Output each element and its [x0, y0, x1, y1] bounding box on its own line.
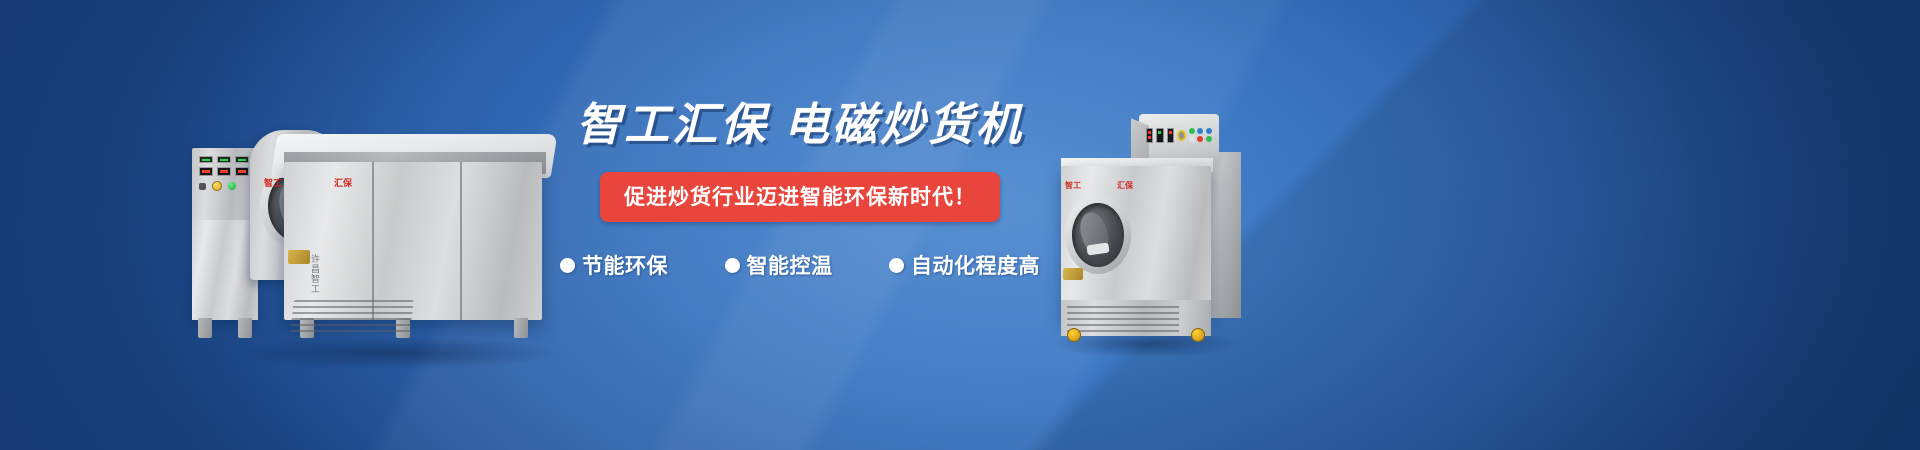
button-grid-2 — [1206, 128, 1212, 142]
product-image-roaster-small: 智工 汇保 — [1043, 100, 1258, 348]
emergency-knob-icon — [212, 181, 222, 191]
product-image-roaster-large: 智工 汇保 许昌智工 — [188, 104, 558, 356]
cabinet-leg-right — [238, 318, 252, 338]
feature-label: 智能控温 — [747, 250, 833, 280]
cabinet-leg-3 — [514, 318, 528, 338]
button-green-2 — [1206, 136, 1212, 142]
cabinet-lower-door — [192, 220, 258, 320]
display-row — [199, 167, 251, 176]
meter-3 — [1167, 128, 1174, 143]
gauge-row — [199, 156, 251, 163]
rating-plate — [1063, 268, 1083, 280]
cabinet-leg-left — [198, 318, 212, 338]
display-3 — [235, 167, 249, 176]
brand-text-right: 汇保 — [1117, 180, 1133, 191]
meter-1 — [1146, 128, 1153, 143]
button-blue-1 — [1197, 128, 1203, 134]
button-white-1 — [1189, 136, 1195, 142]
banner-text-block: 智工汇保 电磁炒货机 促进炒货行业迈进智能环保新时代！ 节能环保 智能控温 自动… — [560, 100, 1040, 280]
bullet-dot-icon — [889, 258, 904, 273]
emergency-stop-icon — [1177, 130, 1186, 141]
page-title: 智工汇保 电磁炒货机 — [560, 100, 1040, 150]
gauge-3 — [235, 156, 249, 163]
feature-item-automation: 自动化程度高 — [889, 250, 1040, 280]
door-seam-2 — [460, 162, 462, 320]
gauge-2 — [217, 156, 231, 163]
subtitle-badge: 促进炒货行业迈进智能环保新时代！ — [600, 172, 1000, 222]
bullet-dot-icon — [725, 258, 740, 273]
vent-louvers — [1067, 306, 1179, 332]
gauge-1 — [199, 156, 213, 163]
brand-text-left: 智工 — [1065, 180, 1081, 191]
promo-banner: 智工 汇保 许昌智工 — [0, 0, 1920, 450]
bullet-dot-icon — [560, 258, 575, 273]
feature-item-energy-saving: 节能环保 — [560, 250, 668, 280]
button-red-1 — [1197, 136, 1203, 142]
feature-label: 节能环保 — [582, 250, 668, 280]
button-blue-2 — [1206, 128, 1212, 134]
toggle-switch-icon — [199, 183, 206, 190]
button-grid — [1189, 128, 1203, 142]
caster-wheel-right — [1191, 328, 1205, 342]
control-cabinet — [192, 148, 258, 320]
button-green-1 — [1189, 128, 1195, 134]
control-panel — [199, 156, 251, 206]
brand-text-left: 智工 — [264, 176, 282, 189]
power-indicator-icon — [228, 182, 236, 190]
door-seam-1 — [372, 162, 374, 320]
subtitle-row: 促进炒货行业迈进智能环保新时代！ — [560, 172, 1040, 222]
side-brand-text: 许昌智工 — [308, 254, 322, 294]
display-1 — [199, 167, 213, 176]
brand-text-right: 汇保 — [334, 176, 352, 189]
feature-list: 节能环保 智能控温 自动化程度高 — [560, 250, 1040, 280]
vent-louvers — [290, 300, 414, 334]
meter-2 — [1156, 128, 1163, 143]
caster-wheel-left — [1067, 328, 1081, 342]
feature-item-smart-temperature: 智能控温 — [725, 250, 833, 280]
display-2 — [217, 167, 231, 176]
feature-label: 自动化程度高 — [911, 250, 1040, 280]
main-cabinet — [284, 162, 542, 320]
rating-plate — [288, 250, 310, 264]
knob-row — [199, 181, 251, 191]
control-panel — [1143, 122, 1215, 148]
